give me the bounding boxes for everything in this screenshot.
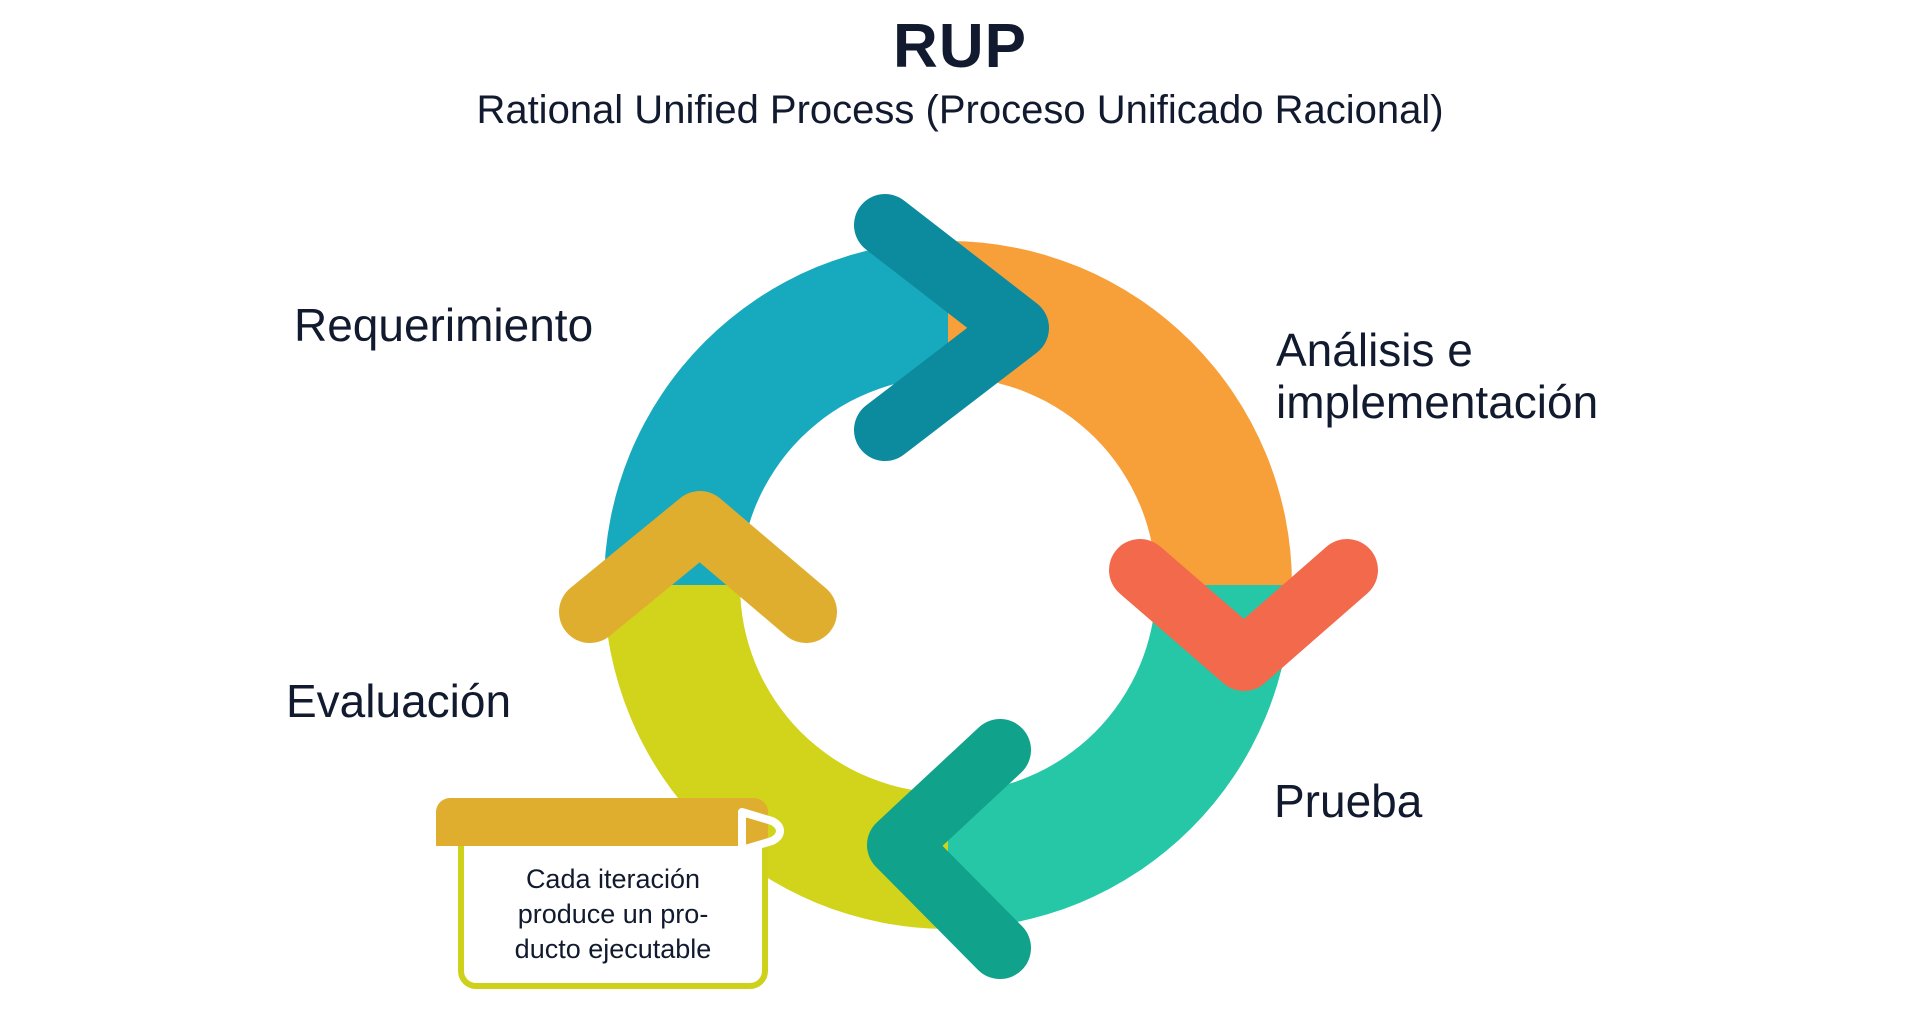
page-subtitle: Rational Unified Process (Proceso Unific… <box>0 85 1920 135</box>
arc-segment-prueba[interactable] <box>948 585 1292 929</box>
cycle-diagram <box>0 0 1920 1024</box>
stage-label-prueba[interactable]: Prueba <box>1274 776 1422 828</box>
arrowhead-bottom <box>898 750 1000 948</box>
page-title: RUP <box>0 14 1920 79</box>
arc-segment-analisis[interactable] <box>948 241 1292 585</box>
stage-label-requerimiento[interactable]: Requerimiento <box>294 300 593 352</box>
arrowhead-top <box>885 225 1018 430</box>
arc-segment-requerimiento[interactable] <box>604 241 948 585</box>
arrowhead-left <box>590 522 806 612</box>
stage-label-analisis-implementacion[interactable]: Análisis e implementación <box>1276 325 1598 428</box>
callout-header-bar <box>436 798 768 846</box>
stage-label-evaluacion[interactable]: Evaluación <box>286 676 511 728</box>
callout-text: Cada iteración produce un pro- ducto eje… <box>480 862 746 967</box>
cycle-ring-svg <box>0 0 1920 1024</box>
play-triangle-icon <box>736 802 792 860</box>
callout-body: Cada iteración produce un pro- ducto eje… <box>458 824 768 989</box>
diagram-canvas: RUP Rational Unified Process (Proceso Un… <box>0 0 1920 1024</box>
header: RUP Rational Unified Process (Proceso Un… <box>0 0 1920 135</box>
arrowhead-right <box>1140 570 1347 660</box>
